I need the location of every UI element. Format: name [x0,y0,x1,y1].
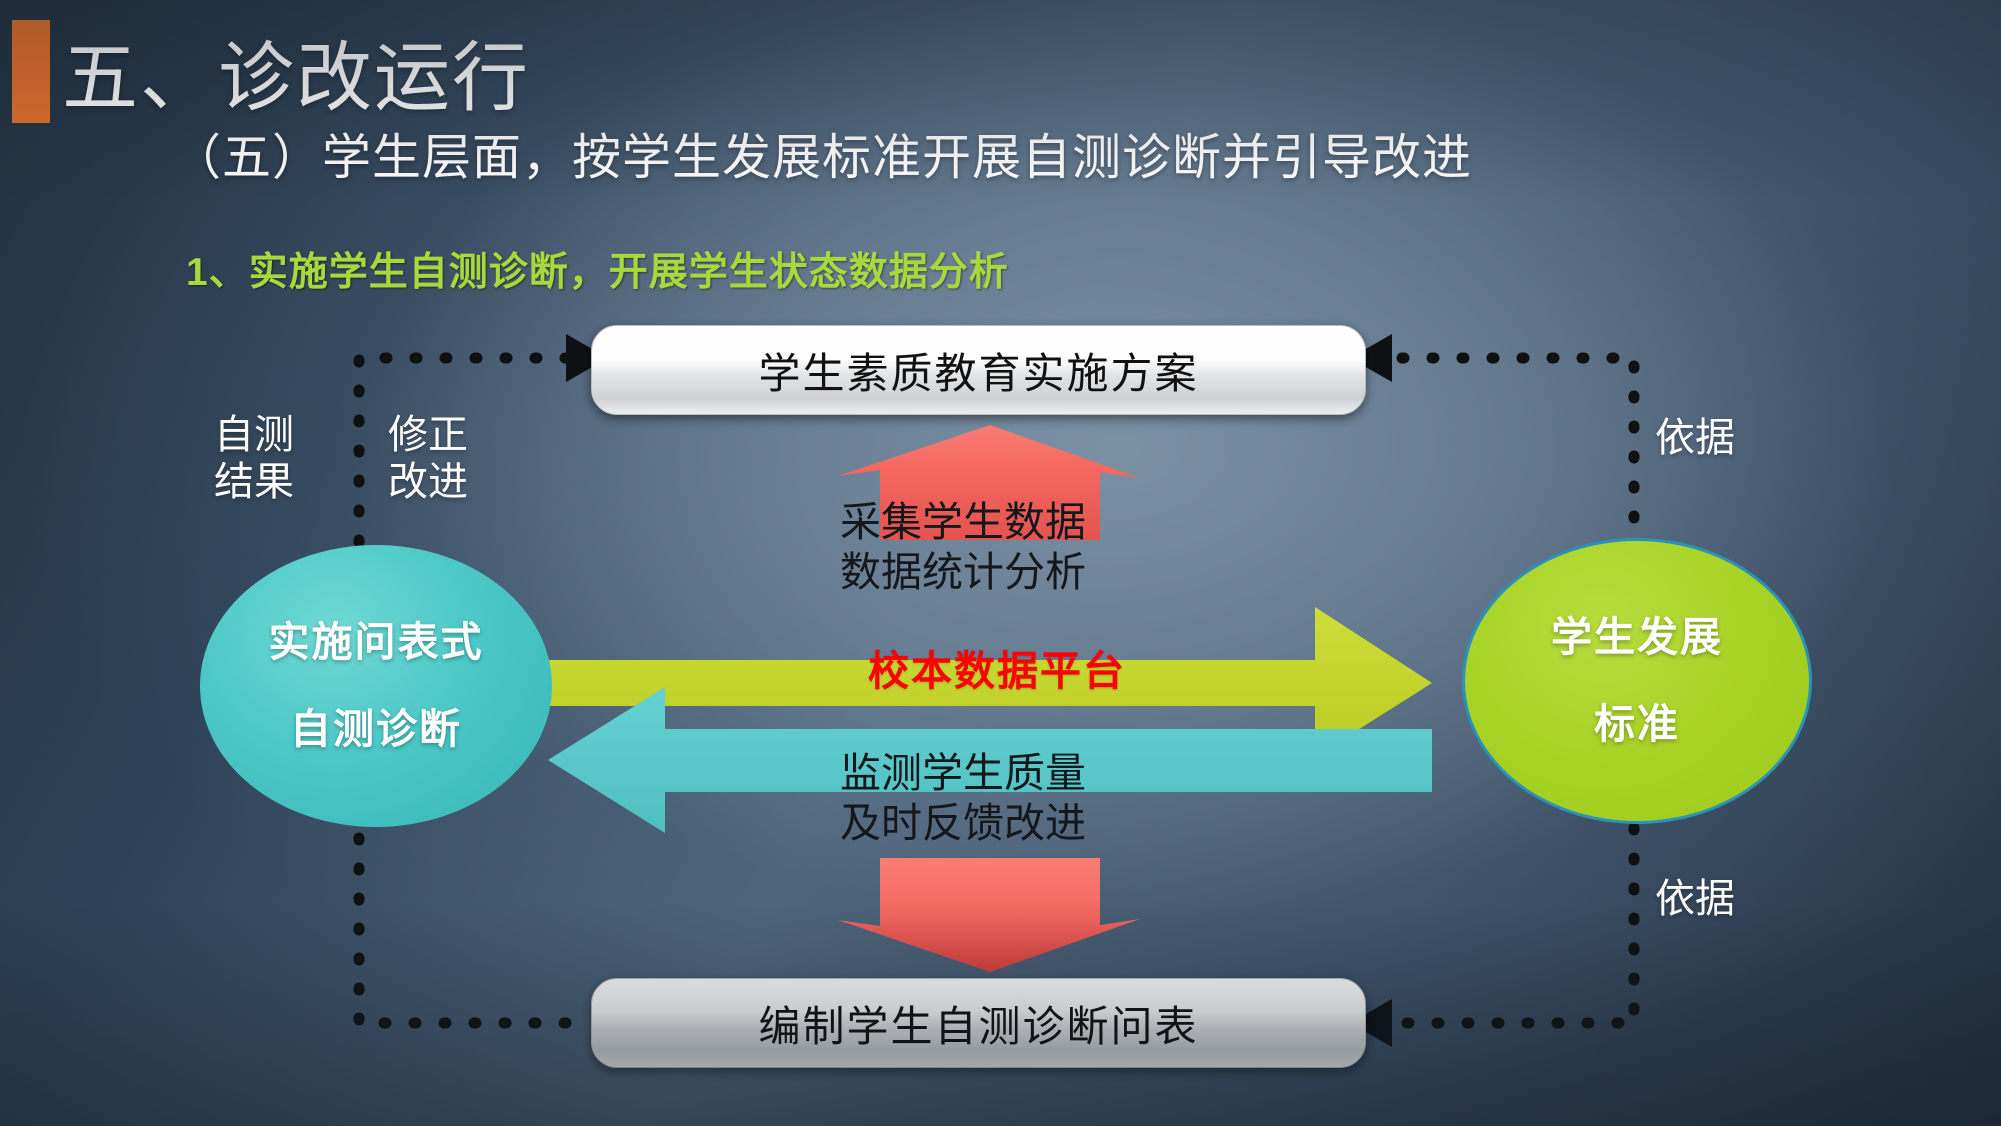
slide-canvas: 五、诊改运行 （五）学生层面，按学生发展标准开展自测诊断并引导改进 1、实施学生… [0,0,2001,1126]
label-school-data-platform: 校本数据平台 [868,637,1126,697]
circle-self-diagnosis[interactable]: 实施问表式 自测诊断 [200,545,552,827]
circle-right-line2: 标准 [1594,704,1680,745]
label-collect-analyze: 采集学生数据 数据统计分析 [840,497,1086,597]
label-basis-bottom: 依据 [1655,876,1735,923]
dotted-path-standard-to-questionnaire [1400,828,1634,1023]
label-monitor-feedback: 监测学生质量 及时反馈改进 [840,748,1086,848]
circle-student-development-standard[interactable]: 学生发展 标准 [1462,538,1812,824]
label-basis-top: 依据 [1655,415,1735,462]
down-arrow [838,858,1140,972]
circle-left-line1: 实施问表式 [269,622,484,663]
label-collect-line2: 数据统计分析 [840,547,1086,597]
label-monitor-line1: 监测学生质量 [840,748,1086,798]
label-self-test-result: 自测 结果 [214,412,294,506]
label-monitor-line2: 及时反馈改进 [840,798,1086,848]
box-quality-education-plan[interactable]: 学生素质教育实施方案 [591,325,1366,415]
label-revise-line1: 修正 [388,412,468,459]
circle-right-line1: 学生发展 [1551,617,1723,658]
label-self-test-line2: 结果 [214,459,294,506]
label-revise-improve: 修正 改进 [388,412,468,506]
process-diagram: 学生素质教育实施方案 编制学生自测诊断问表 实施问表式 自测诊断 学生发展 标准… [0,0,2001,1126]
label-self-test-line1: 自测 [214,412,294,459]
dotted-path-circle-to-questionnaire [359,838,588,1023]
circle-left-line2: 自测诊断 [290,709,462,750]
label-collect-line1: 采集学生数据 [840,497,1086,547]
label-revise-line2: 改进 [388,459,468,506]
box-questionnaire[interactable]: 编制学生自测诊断问表 [591,978,1366,1068]
